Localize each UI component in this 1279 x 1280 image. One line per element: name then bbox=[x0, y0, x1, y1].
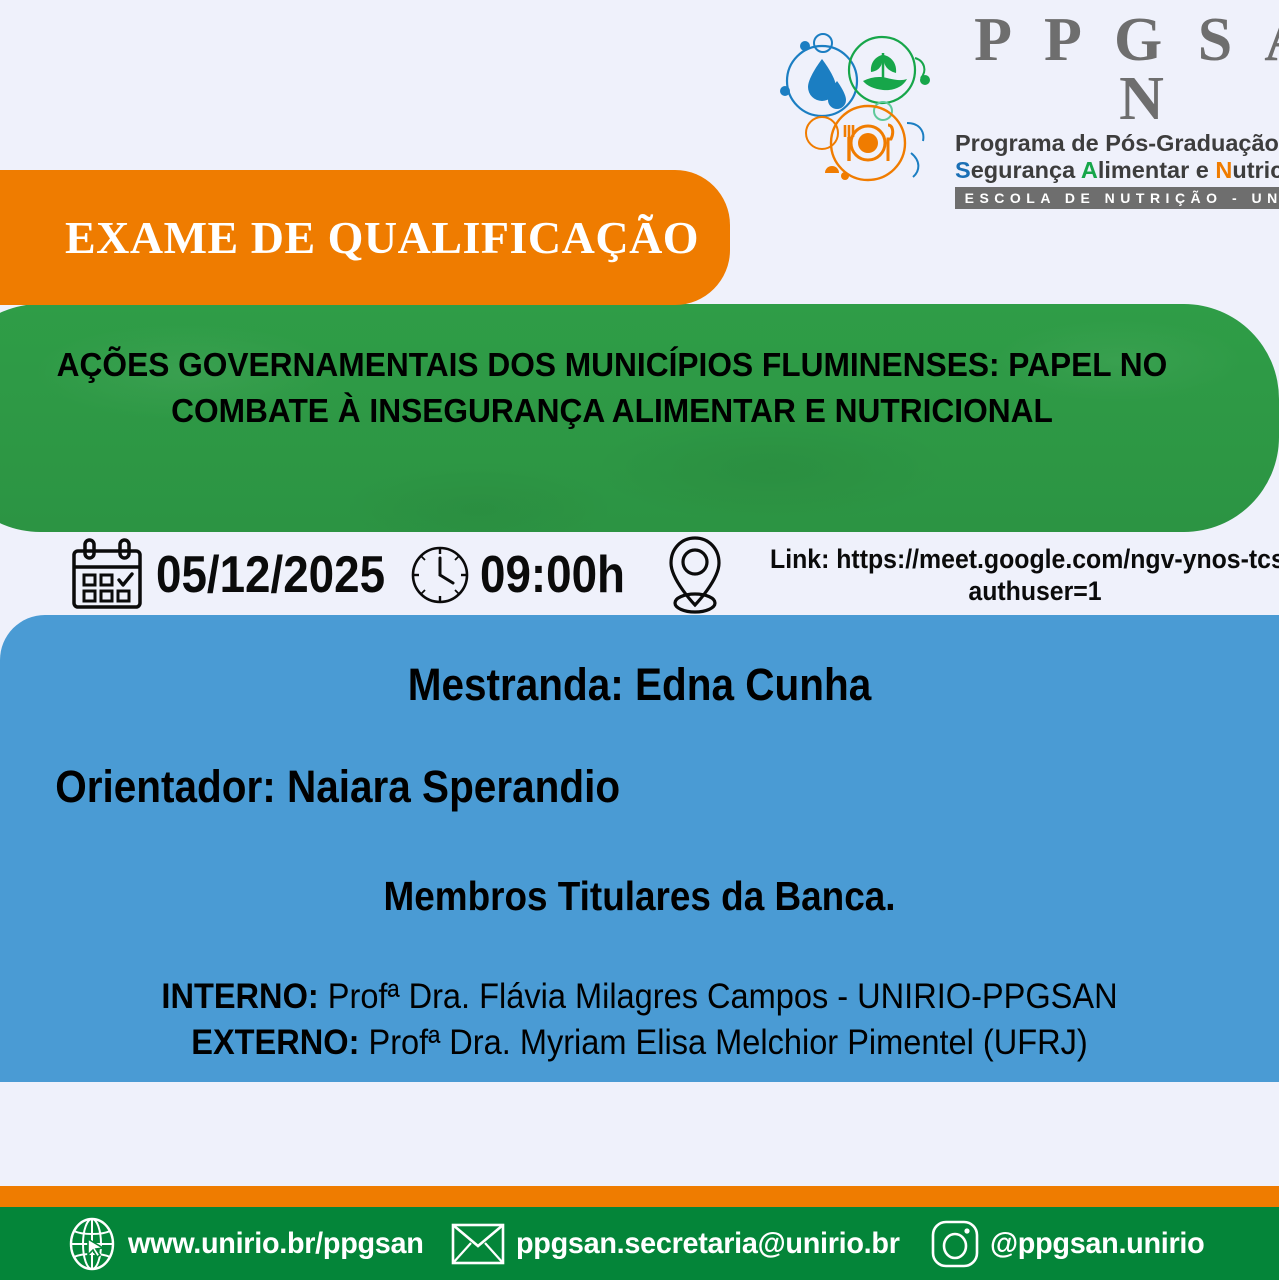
ppgsan-logo-text: P P G S A N Programa de Pós-Graduação em… bbox=[955, 11, 1279, 209]
clock-icon bbox=[406, 541, 474, 609]
website-text: www.unirio.br/ppgsan bbox=[128, 1227, 424, 1261]
tagline-n: N bbox=[1215, 157, 1232, 183]
committee-member-external: EXTERNO: Profª Dra. Myriam Elisa Melchio… bbox=[73, 1020, 1207, 1066]
footer-logo-strip bbox=[0, 1082, 1279, 1186]
ppgsan-school-band: ESCOLA DE NUTRIÇÃO - UNIRIO bbox=[955, 187, 1279, 209]
location-pin-icon bbox=[663, 533, 727, 617]
ppgsan-logo: P P G S A N Programa de Pós-Graduação em… bbox=[775, 30, 1260, 190]
ppgsan-emblem-icon bbox=[775, 33, 945, 188]
student-name: Mestranda: Edna Cunha bbox=[91, 659, 1188, 711]
email-contact[interactable]: ppgsan.secretaria@unirio.br bbox=[450, 1220, 916, 1268]
email-text: ppgsan.secretaria@unirio.br bbox=[516, 1227, 900, 1261]
poster-root: P P G S A N Programa de Pós-Graduação em… bbox=[0, 0, 1279, 1280]
tagline-a: A bbox=[1081, 157, 1098, 183]
event-time: 09:00h bbox=[480, 545, 625, 605]
orange-divider-strip bbox=[0, 1186, 1279, 1207]
calendar-icon bbox=[68, 537, 146, 613]
thesis-title: AÇÕES GOVERNAMENTAIS DOS MUNICÍPIOS FLUM… bbox=[41, 342, 1183, 433]
committee-name-external: Profª Dra. Myriam Elisa Melchior Pimente… bbox=[369, 1023, 1088, 1062]
instagram-icon bbox=[930, 1218, 980, 1270]
advisor-name: Orientador: Naiara Sperandio bbox=[30, 761, 1127, 813]
instagram-contact[interactable]: @ppgsan.unirio bbox=[930, 1218, 1213, 1270]
committee-role-internal: INTERNO: bbox=[161, 977, 318, 1016]
ppgsan-logo-mark bbox=[775, 33, 945, 188]
exam-type-banner: EXAME DE QUALIFICAÇÃO bbox=[0, 170, 730, 305]
tagline-utricional: utricional bbox=[1232, 157, 1279, 183]
event-date: 05/12/2025 bbox=[156, 545, 385, 605]
date-cell: 05/12/2025 bbox=[68, 537, 416, 613]
committee-list: INTERNO: Profª Dra. Flávia Milagres Camp… bbox=[30, 974, 1249, 1066]
committee-heading: Membros Titulares da Banca. bbox=[91, 873, 1188, 920]
instagram-text: @ppgsan.unirio bbox=[990, 1227, 1204, 1261]
ppgsan-tagline-line2: Segurança Alimentar e Nutricional bbox=[955, 158, 1279, 183]
contact-bar: www.unirio.br/ppgsan ppgsan.secretaria@u… bbox=[0, 1207, 1279, 1280]
globe-icon bbox=[66, 1217, 118, 1271]
tagline-s: S bbox=[955, 157, 971, 183]
link-cell: Link: https://meet.google.com/ngv-ynos-t… bbox=[663, 533, 1279, 617]
event-info-row: 05/12/2025 09:00h bbox=[0, 530, 1279, 620]
ppgsan-acronym: P P G S A N bbox=[955, 11, 1279, 129]
exam-type-label: EXAME DE QUALIFICAÇÃO bbox=[65, 211, 699, 264]
tagline-eguranca: egurança bbox=[971, 157, 1081, 183]
tagline-limentar: limentar e bbox=[1098, 157, 1216, 183]
details-section: Mestranda: Edna Cunha Orientador: Naiara… bbox=[0, 615, 1279, 1082]
committee-role-external: EXTERNO: bbox=[191, 1023, 359, 1062]
ppgsan-tagline-line1: Programa de Pós-Graduação em bbox=[955, 131, 1279, 156]
time-cell: 09:00h bbox=[406, 541, 645, 609]
envelope-icon bbox=[450, 1220, 506, 1268]
website-contact[interactable]: www.unirio.br/ppgsan bbox=[66, 1217, 436, 1271]
thesis-title-box: AÇÕES GOVERNAMENTAIS DOS MUNICÍPIOS FLUM… bbox=[0, 304, 1279, 532]
committee-name-internal: Profª Dra. Flávia Milagres Campos - UNIR… bbox=[328, 977, 1118, 1016]
meeting-link[interactable]: Link: https://meet.google.com/ngv-ynos-t… bbox=[759, 543, 1279, 608]
committee-member-internal: INTERNO: Profª Dra. Flávia Milagres Camp… bbox=[73, 974, 1207, 1020]
